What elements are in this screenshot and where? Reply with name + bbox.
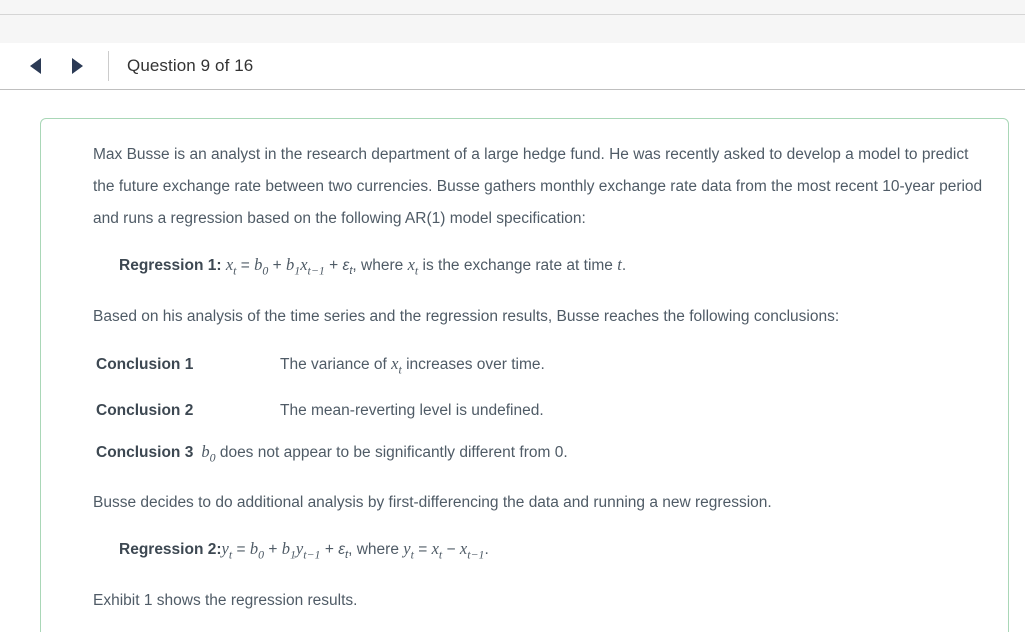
vignette-card: Max Busse is an analyst in the research … bbox=[40, 118, 1009, 632]
triangle-left-icon bbox=[30, 58, 41, 74]
regression-2-label: Regression 2: bbox=[119, 541, 222, 558]
question-counter-label: Question 9 of 16 bbox=[127, 56, 253, 76]
conclusion-3-label: Conclusion 3 bbox=[96, 432, 193, 473]
nav-separator bbox=[108, 51, 109, 81]
conclusion-row-3: Conclusion 3b0 does not appear to be sig… bbox=[53, 431, 990, 478]
window-top-strip bbox=[0, 0, 1025, 15]
conclusion-row-1: Conclusion 1The variance of xt increases… bbox=[53, 343, 990, 390]
app-root: Question 9 of 16 Max Busse is an analyst… bbox=[0, 0, 1025, 632]
top-gray-band bbox=[0, 15, 1025, 43]
conclusion-3-text: b0 does not appear to be significantly d… bbox=[201, 444, 567, 461]
vignette-paragraph-4: Exhibit 1 shows the regression results. bbox=[53, 585, 990, 617]
conclusions-list: Conclusion 1The variance of xt increases… bbox=[53, 343, 990, 479]
question-nav-bar: Question 9 of 16 bbox=[0, 43, 1025, 90]
regression-1-label: Regression 1: bbox=[119, 257, 222, 274]
regression-1-formula: xt = b0 + b1xt−1 + εt, where xt is the e… bbox=[226, 257, 626, 274]
next-question-button[interactable] bbox=[56, 51, 98, 81]
previous-question-button[interactable] bbox=[14, 51, 56, 81]
conclusion-1-label: Conclusion 1 bbox=[96, 344, 280, 385]
vignette-paragraph-1: Max Busse is an analyst in the research … bbox=[53, 139, 990, 235]
regression-2-formula: yt = b0 + b1yt−1 + εt, where yt = xt − x… bbox=[222, 541, 489, 558]
regression-1-line: Regression 1: xt = b0 + b1xt−1 + εt, whe… bbox=[53, 249, 990, 287]
conclusion-2-label: Conclusion 2 bbox=[96, 390, 280, 431]
triangle-right-icon bbox=[72, 58, 83, 74]
vignette-paragraph-3: Busse decides to do additional analysis … bbox=[53, 487, 990, 519]
regression-2-line: Regression 2:yt = b0 + b1yt−1 + εt, wher… bbox=[53, 533, 990, 571]
conclusion-1-text: The variance of xt increases over time. bbox=[280, 356, 545, 373]
vignette-paragraph-2: Based on his analysis of the time series… bbox=[53, 301, 990, 333]
conclusion-row-2: Conclusion 2The mean-reverting level is … bbox=[53, 390, 990, 431]
content-area: Max Busse is an analyst in the research … bbox=[0, 90, 1025, 632]
conclusion-2-text: The mean-reverting level is undefined. bbox=[280, 402, 544, 419]
